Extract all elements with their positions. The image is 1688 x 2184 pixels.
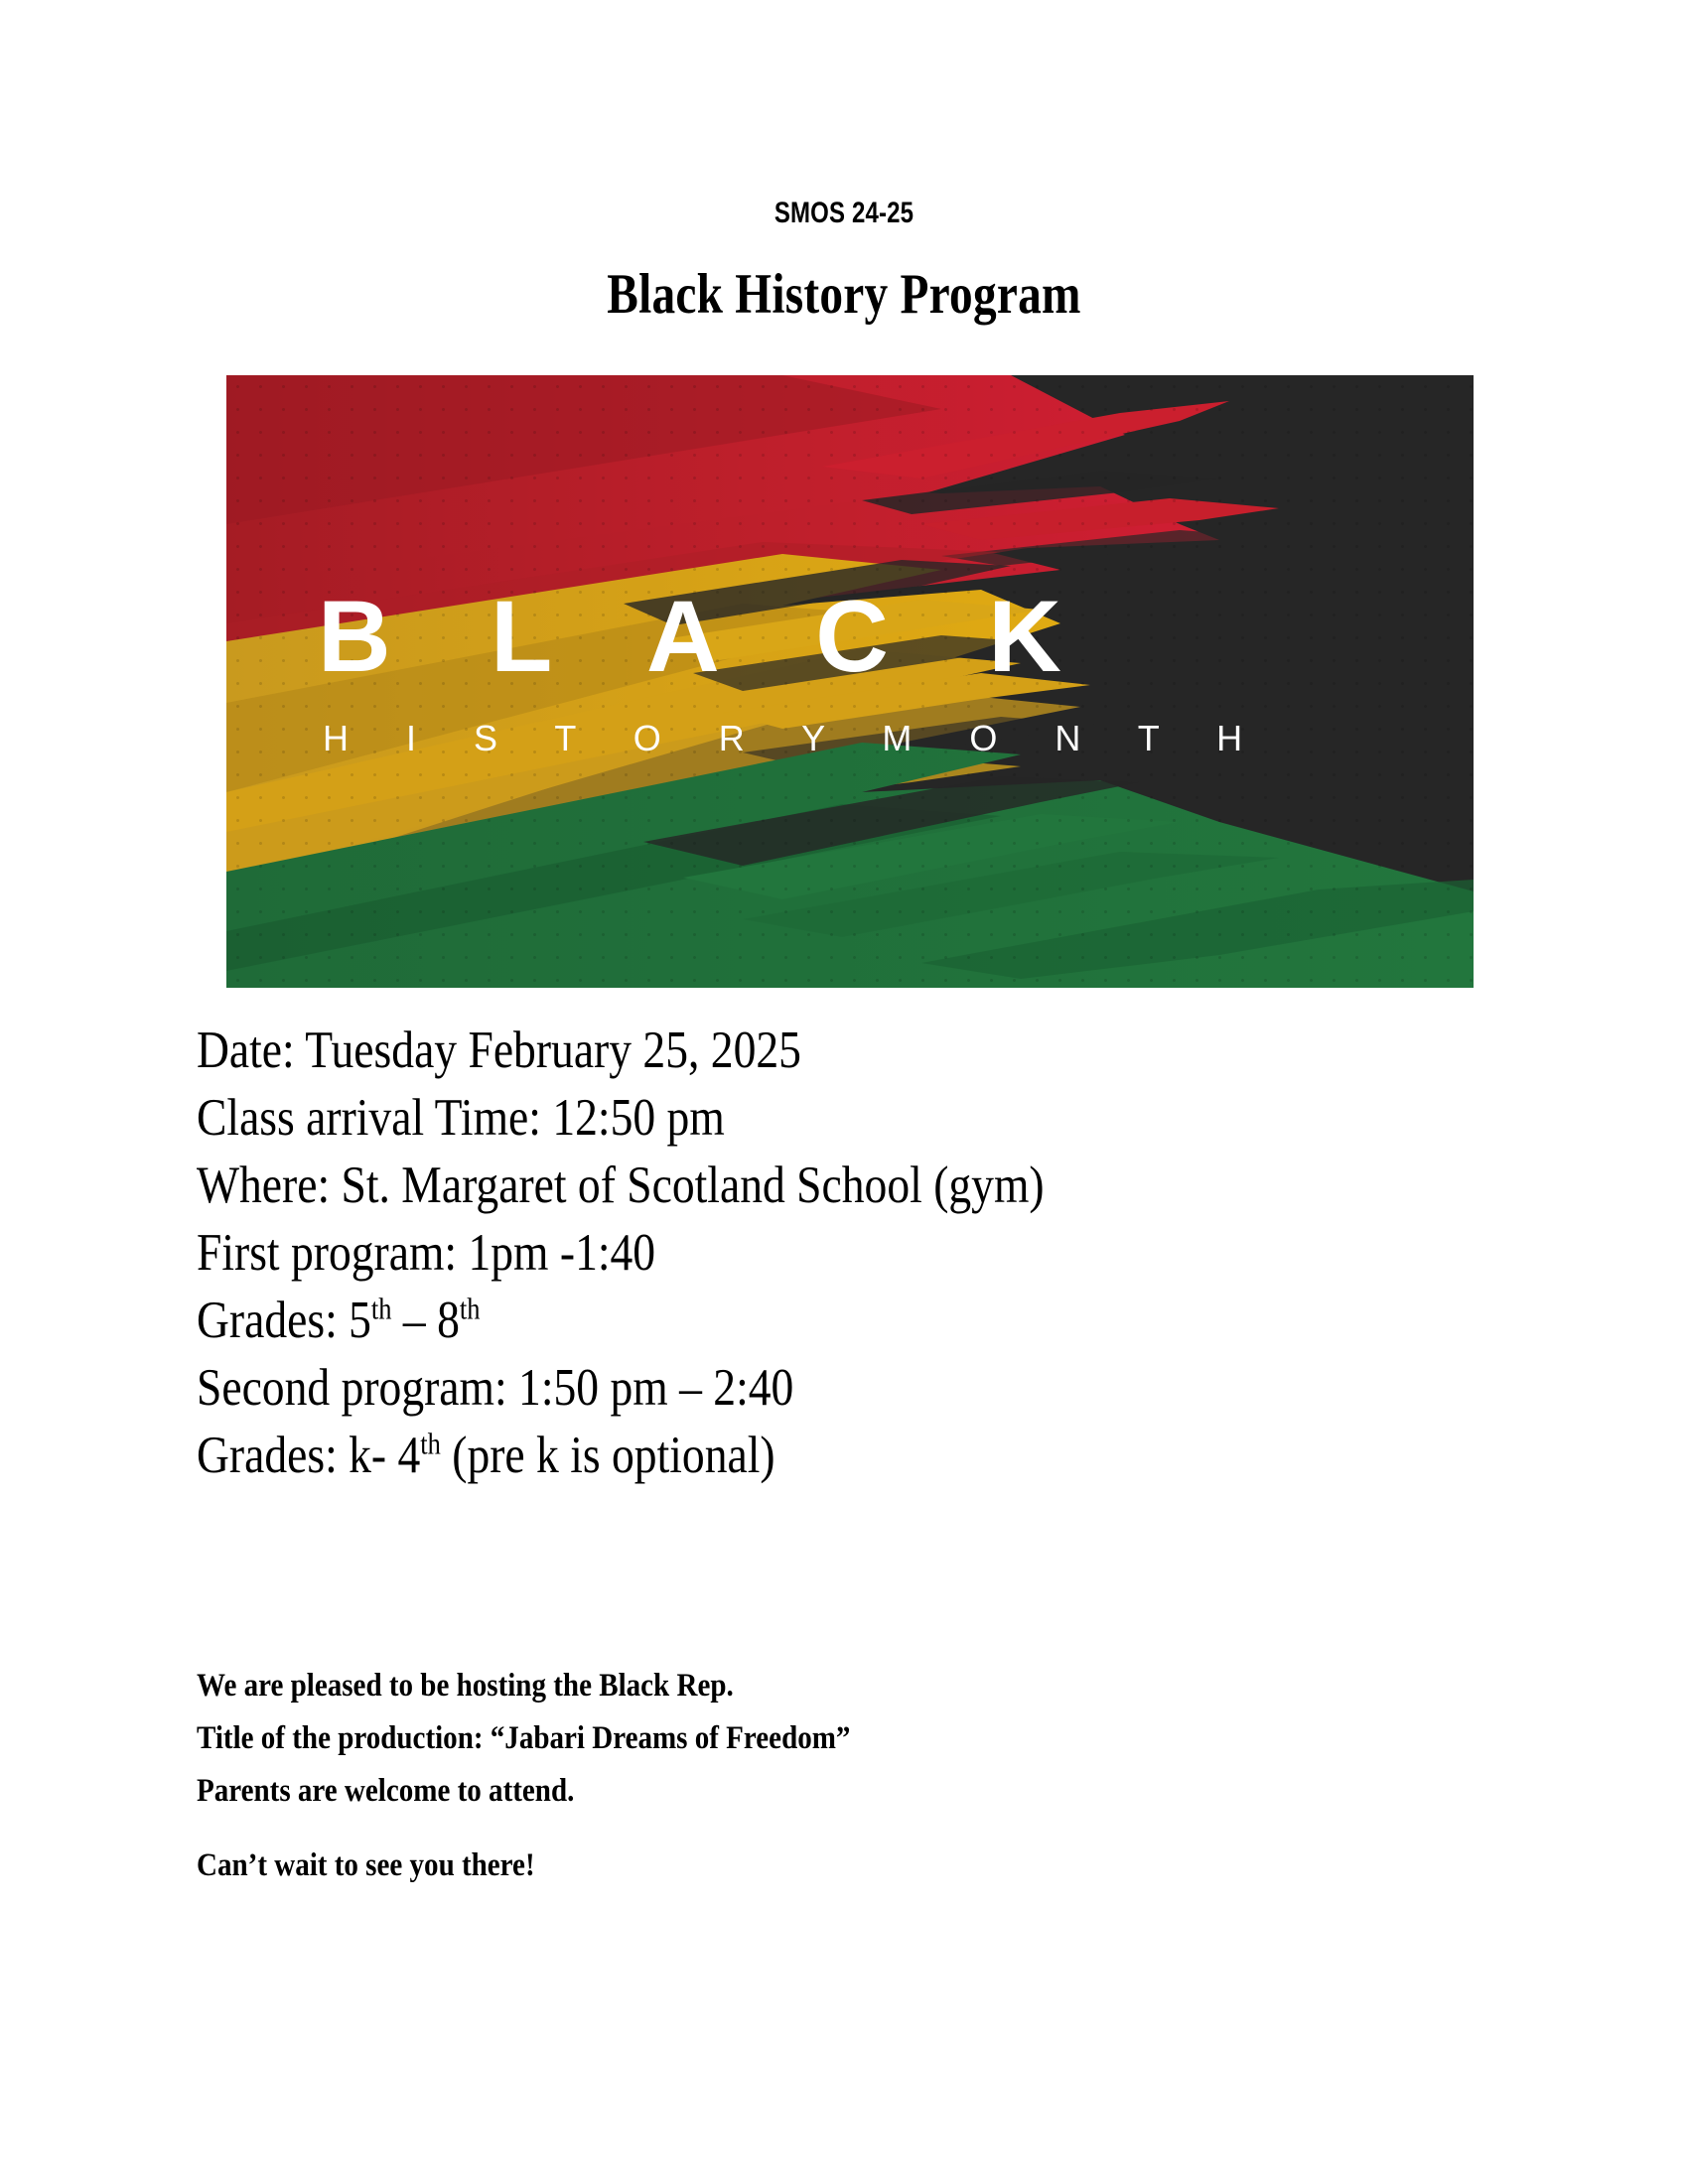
note-parents-welcome: Parents are welcome to attend.: [197, 1765, 1420, 1818]
note-production-title: Title of the production: “Jabari Dreams …: [197, 1712, 1420, 1765]
banner-subtitle-history-month: H I S T O R Y M O N T H: [323, 721, 1266, 756]
flyer-page: SMOS 24-25 Black History Program: [0, 0, 1688, 2184]
detail-line-where: Where: St. Margaret of Scotland School (…: [197, 1152, 1392, 1219]
page-title: Black History Program: [144, 262, 1545, 327]
note-closing: Can’t wait to see you there!: [197, 1840, 1420, 1892]
detail-line-grades-second: Grades: k- 4th (pre k is optional): [197, 1422, 1392, 1489]
grades-second-prefix: Grades: k- 4: [197, 1427, 420, 1484]
detail-line-first-program: First program: 1pm -1:40: [197, 1219, 1392, 1287]
black-history-month-banner: B L A C K H I S T O R Y M O N T H: [226, 375, 1474, 988]
detail-line-arrival-time: Class arrival Time: 12:50 pm: [197, 1084, 1392, 1152]
grades-first-mid: – 8: [391, 1292, 459, 1349]
detail-line-grades-first: Grades: 5th – 8th: [197, 1287, 1392, 1354]
notes-spacer: [197, 1818, 1587, 1840]
banner-word-black: B L A C K: [318, 586, 1097, 687]
detail-line-second-program: Second program: 1:50 pm – 2:40: [197, 1354, 1392, 1422]
grades-first-prefix: Grades: 5: [197, 1292, 371, 1349]
notes-block: We are pleased to be hosting the Black R…: [197, 1660, 1587, 1892]
grades-first-ordinal: th: [371, 1292, 392, 1325]
document-header: SMOS 24-25: [169, 197, 1519, 230]
grades-second-suffix: (pre k is optional): [441, 1427, 775, 1484]
grades-first-ordinal-2: th: [460, 1292, 481, 1325]
grades-second-ordinal: th: [420, 1427, 441, 1460]
detail-line-date: Date: Tuesday February 25, 2025: [197, 1017, 1392, 1084]
note-hosting-black-rep: We are pleased to be hosting the Black R…: [197, 1660, 1420, 1712]
event-details-block: Date: Tuesday February 25, 2025 Class ar…: [197, 1017, 1587, 1489]
